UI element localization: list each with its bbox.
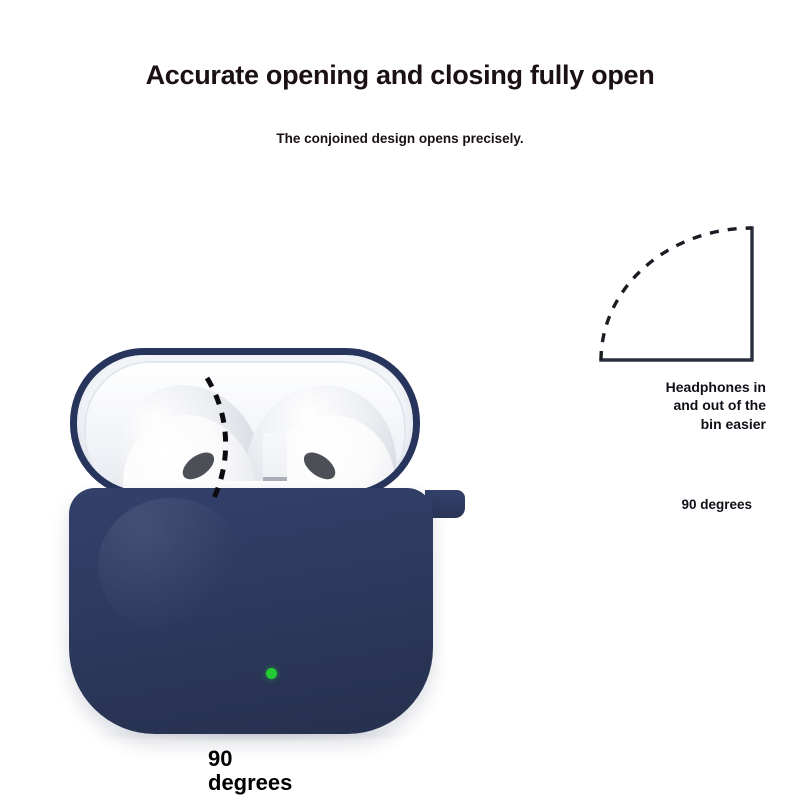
diagram-caption: Headphones in and out of the bin easier xyxy=(580,378,766,433)
caption-line-3: bin easier xyxy=(580,415,766,433)
arc-diagram-graphic xyxy=(586,214,766,374)
charging-led-indicator xyxy=(266,668,277,679)
product-feature-slide: Accurate opening and closing fully open … xyxy=(0,0,800,800)
overlay-angle-number: 90 xyxy=(208,747,292,771)
earbud-mesh-left xyxy=(178,447,219,484)
dashed-quarter-arc xyxy=(601,228,752,360)
angle-value-label: 90 degrees xyxy=(586,497,752,512)
right-angle-solid-lines xyxy=(601,228,752,360)
airpods-case-product-image: 90 degrees xyxy=(55,340,475,740)
case-body-silicone xyxy=(69,488,433,734)
earbud-mesh-right xyxy=(299,447,340,484)
caption-line-1: Headphones in xyxy=(580,378,766,396)
overlay-angle-label: 90 degrees xyxy=(208,747,292,795)
ninety-degree-arc-diagram: 90 degrees xyxy=(586,214,766,374)
case-lid-open xyxy=(70,348,420,498)
overlay-angle-unit: degrees xyxy=(208,771,292,795)
caption-line-2: and out of the xyxy=(580,396,766,414)
page-subtitle: The conjoined design opens precisely. xyxy=(0,131,800,146)
page-title: Accurate opening and closing fully open xyxy=(0,60,800,91)
